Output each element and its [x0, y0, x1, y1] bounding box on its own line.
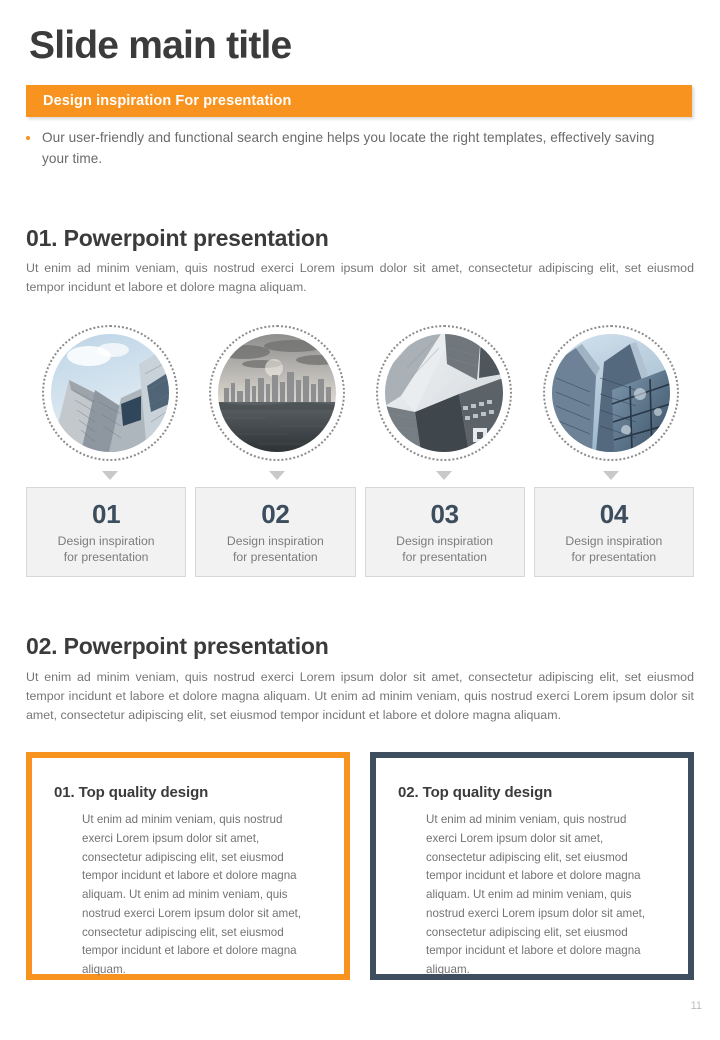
- number-card-caption: Design inspiration for presentation: [58, 533, 155, 566]
- triangle-down-icon: [102, 471, 118, 480]
- slide-canvas: Slide main title Design inspiration For …: [0, 0, 720, 1040]
- skyscrapers-upward-view-photo: [51, 334, 169, 452]
- feature-box-02[interactable]: 02. Top quality design Ut enim ad minim …: [370, 752, 694, 980]
- number-card-04[interactable]: 04 Design inspiration for presentation: [534, 487, 694, 577]
- subtitle-banner-label: Design inspiration For presentation: [26, 93, 291, 109]
- number-card-number: 04: [600, 501, 628, 527]
- circle-image-row: [26, 325, 694, 480]
- number-card-number: 02: [261, 501, 289, 527]
- number-card-03[interactable]: 03 Design inspiration for presentation: [365, 487, 525, 577]
- dotted-ring-02: [209, 325, 345, 461]
- glass-office-towers-photo: [552, 334, 670, 452]
- lead-text: Our user-friendly and functional search …: [42, 127, 666, 169]
- feature-box-body: Ut enim ad minim veniam, quis nostrud ex…: [54, 811, 322, 980]
- number-card-caption-line1: Design inspiration: [396, 533, 493, 549]
- number-card-caption-line1: Design inspiration: [227, 533, 324, 549]
- subtitle-banner: Design inspiration For presentation: [26, 85, 692, 117]
- dotted-ring-03: [376, 325, 512, 461]
- lead-bullet-row: Our user-friendly and functional search …: [26, 127, 666, 169]
- circle-cell-01[interactable]: [26, 325, 193, 480]
- circle-cell-03[interactable]: [360, 325, 527, 480]
- dotted-ring-04: [543, 325, 679, 461]
- number-card-number: 03: [430, 501, 458, 527]
- number-card-caption: Design inspiration for presentation: [396, 533, 493, 566]
- number-card-number: 01: [92, 501, 120, 527]
- number-card-02[interactable]: 02 Design inspiration for presentation: [195, 487, 355, 577]
- number-card-caption-line1: Design inspiration: [565, 533, 662, 549]
- page-title: Slide main title: [29, 26, 291, 65]
- dotted-ring-01: [42, 325, 178, 461]
- section-two-heading: 02. Powerpoint presentation: [26, 633, 329, 660]
- number-card-caption-line2: for presentation: [565, 549, 662, 565]
- bullet-dot-icon: [26, 136, 30, 140]
- circle-cell-04[interactable]: [527, 325, 694, 480]
- feature-box-body: Ut enim ad minim veniam, quis nostrud ex…: [398, 811, 666, 980]
- number-card-caption-line2: for presentation: [396, 549, 493, 565]
- modern-towers-diagonal-photo: [385, 334, 503, 452]
- triangle-down-icon: [603, 471, 619, 480]
- section-two-paragraph: Ut enim ad minim veniam, quis nostrud ex…: [26, 668, 694, 726]
- number-card-caption: Design inspiration for presentation: [565, 533, 662, 566]
- number-card-caption-line2: for presentation: [227, 549, 324, 565]
- section-one-heading: 01. Powerpoint presentation: [26, 225, 329, 252]
- number-card-01[interactable]: 01 Design inspiration for presentation: [26, 487, 186, 577]
- number-card-row: 01 Design inspiration for presentation 0…: [26, 487, 694, 577]
- number-card-caption-line1: Design inspiration: [58, 533, 155, 549]
- triangle-down-icon: [436, 471, 452, 480]
- number-card-caption-line2: for presentation: [58, 549, 155, 565]
- circle-cell-02[interactable]: [193, 325, 360, 480]
- feature-box-title: 01. Top quality design: [54, 784, 322, 801]
- feature-box-title: 02. Top quality design: [398, 784, 666, 801]
- triangle-down-icon: [269, 471, 285, 480]
- city-skyline-waterfront-photo: [218, 334, 336, 452]
- feature-box-01[interactable]: 01. Top quality design Ut enim ad minim …: [26, 752, 350, 980]
- number-card-caption: Design inspiration for presentation: [227, 533, 324, 566]
- page-number: 11: [691, 1000, 702, 1012]
- feature-box-row: 01. Top quality design Ut enim ad minim …: [26, 752, 694, 980]
- section-one-paragraph: Ut enim ad minim veniam, quis nostrud ex…: [26, 259, 694, 297]
